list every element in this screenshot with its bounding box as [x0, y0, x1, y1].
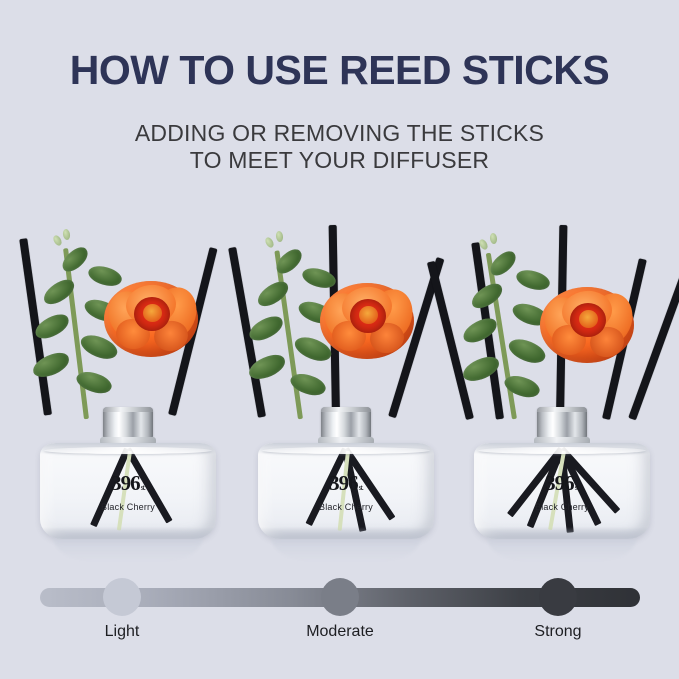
- brand-name: 396st.: [545, 473, 579, 498]
- light-diffuser: 396st. Black Cherry: [18, 225, 238, 555]
- bottle-glass: 396st. Black Cherry: [474, 443, 650, 539]
- slider-knob-strong[interactable]: [539, 578, 577, 616]
- scent-name: Black Cherry: [40, 502, 216, 512]
- brand-name: 396st.: [329, 473, 363, 498]
- bottle-rim: [262, 447, 430, 454]
- bottle-cap: [103, 407, 153, 439]
- bottle-reflection: [272, 539, 420, 561]
- scent-name: Black Cherry: [258, 502, 434, 512]
- rose-stamen: [359, 306, 378, 324]
- slider-label-strong: Strong: [498, 623, 618, 641]
- infographic-canvas: HOW TO USE REED STICKS ADDING OR REMOVIN…: [0, 0, 679, 679]
- brand-name: 396st.: [111, 473, 145, 498]
- bottle-glass: 396st. Black Cherry: [258, 443, 434, 539]
- bottle-reflection: [488, 539, 636, 561]
- brand-suffix: st.: [141, 483, 145, 492]
- rose-stamen: [579, 310, 598, 328]
- eucalyptus-bud: [489, 233, 497, 245]
- rose-stamen: [143, 304, 162, 322]
- intensity-slider[interactable]: Light Moderate Strong: [0, 575, 679, 645]
- eucalyptus-leaf: [460, 315, 500, 346]
- rose-flower: [540, 281, 634, 367]
- subtitle-line-2: TO MEET YOUR DIFFUSER: [0, 147, 679, 174]
- eucalyptus-stem: [274, 250, 303, 419]
- bottle-cap: [537, 407, 587, 439]
- slider-knob-light[interactable]: [103, 578, 141, 616]
- bottle-label: 396st. Black Cherry: [474, 473, 650, 512]
- moderate-diffuser: 396st. Black Cherry: [236, 225, 456, 555]
- page-subtitle: ADDING OR REMOVING THE STICKS TO MEET YO…: [0, 120, 679, 174]
- strong-diffuser: 396st. Black Cherry: [452, 225, 672, 555]
- bottle-rim: [478, 447, 646, 454]
- eucalyptus-stem: [63, 248, 89, 419]
- bottle-rim: [44, 447, 212, 454]
- subtitle-line-1: ADDING OR REMOVING THE STICKS: [0, 120, 679, 147]
- slider-label-light: Light: [62, 623, 182, 641]
- eucalyptus-bud: [62, 228, 71, 240]
- diffuser-bottle: 396st. Black Cherry: [40, 407, 216, 555]
- brand-suffix: st.: [575, 483, 579, 492]
- scent-name: Black Cherry: [474, 502, 650, 512]
- rose-flower: [320, 277, 414, 363]
- page-title: HOW TO USE REED STICKS: [0, 47, 679, 93]
- eucalyptus-bud: [52, 234, 64, 247]
- eucalyptus-leaf: [246, 313, 286, 344]
- eucalyptus-bud: [275, 231, 283, 243]
- eucalyptus-bud: [264, 236, 276, 249]
- bottle-reflection: [54, 539, 202, 561]
- rose-flower: [104, 275, 198, 361]
- bottle-label: 396st. Black Cherry: [258, 473, 434, 512]
- bottle-label: 396st. Black Cherry: [40, 473, 216, 512]
- slider-knob-moderate[interactable]: [321, 578, 359, 616]
- diffuser-bottle: 396st. Black Cherry: [258, 407, 434, 555]
- bottle-glass: 396st. Black Cherry: [40, 443, 216, 539]
- brand-suffix: st.: [359, 483, 363, 492]
- bottle-cap: [321, 407, 371, 439]
- diffuser-bottle: 396st. Black Cherry: [474, 407, 650, 555]
- slider-label-moderate: Moderate: [280, 623, 400, 641]
